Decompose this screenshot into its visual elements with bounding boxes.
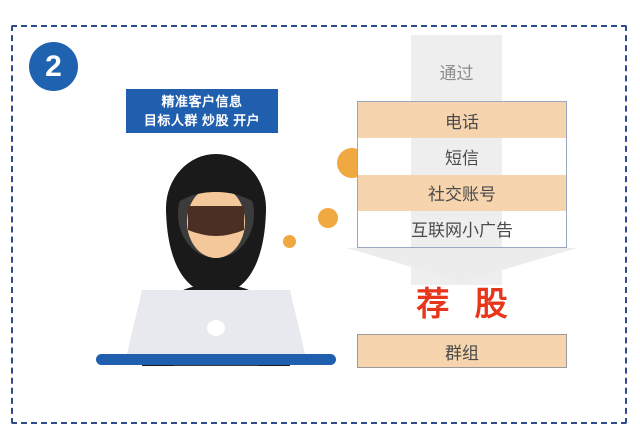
channel-row: 电话: [358, 102, 566, 138]
channel-row-label: 社交账号: [428, 180, 496, 205]
infographic-canvas: 2 精准客户信息 目标人群 炒股 开户: [0, 0, 640, 434]
channel-row: 互联网小广告: [358, 211, 566, 247]
headline-stock-recommendation: 荐 股: [357, 277, 567, 325]
hooded-hacker-illustration: [96, 148, 336, 366]
channel-row-label: 互联网小广告: [411, 216, 513, 241]
channel-list-box: 电话 短信 社交账号 互联网小广告: [357, 101, 567, 248]
channel-row-label: 短信: [445, 144, 479, 169]
channel-row-label: 电话: [445, 108, 479, 133]
group-box: 群组: [357, 334, 567, 368]
step-number-label: 2: [45, 52, 62, 82]
channel-row: 短信: [358, 138, 566, 174]
info-box-line-1: 精准客户信息: [161, 92, 242, 111]
via-label: 通过: [411, 59, 502, 84]
channel-row: 社交账号: [358, 175, 566, 211]
bubble-small-icon: [283, 235, 296, 248]
customer-info-box: 精准客户信息 目标人群 炒股 开户: [126, 89, 278, 133]
group-box-label: 群组: [445, 339, 479, 364]
step-number-badge: 2: [29, 42, 78, 91]
bubble-medium-icon: [318, 208, 338, 228]
info-box-line-2: 目标人群 炒股 开户: [144, 111, 260, 130]
